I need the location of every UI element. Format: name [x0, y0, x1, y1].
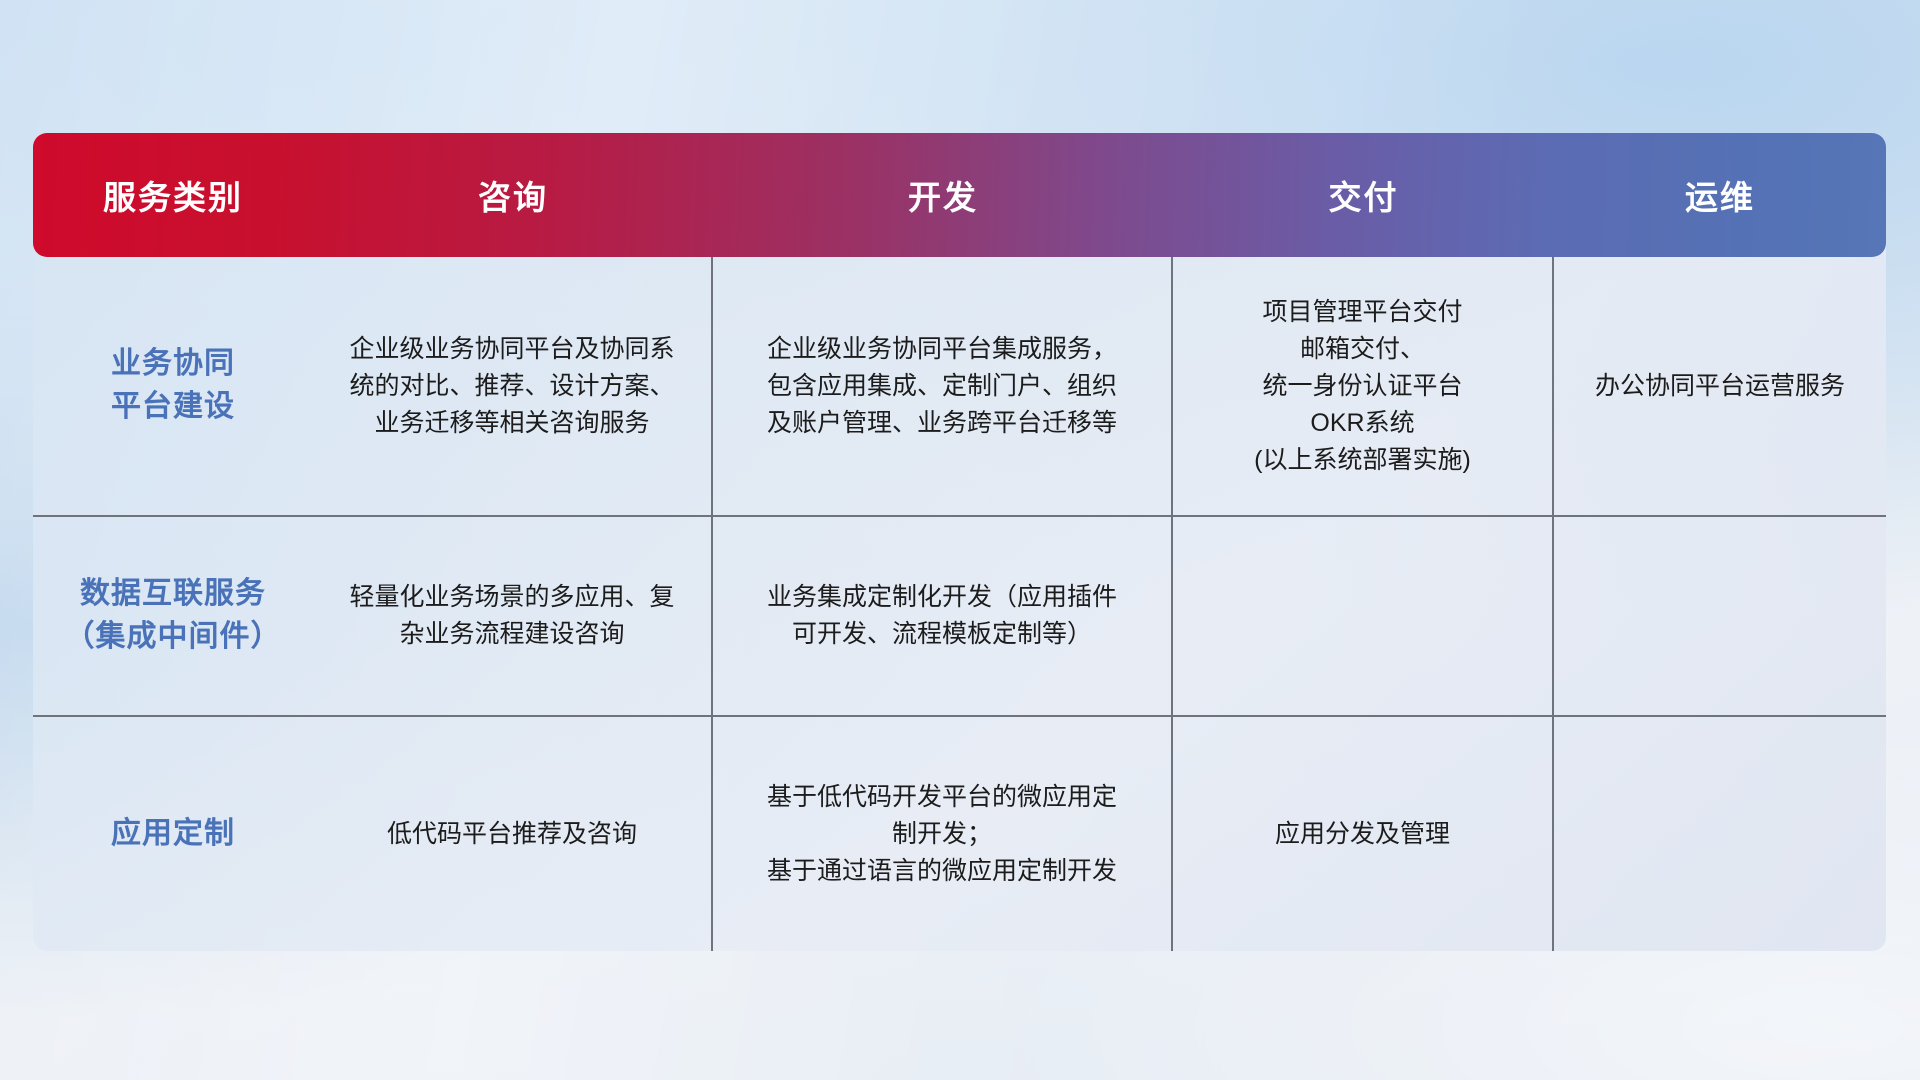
table-header-row: 服务类别 咨询 开发 交付 运维 [33, 133, 1886, 257]
column-header-service-category: 服务类别 [33, 171, 313, 219]
cell-row1-consulting: 企业级业务协同平台及协同系 统的对比、推荐、设计方案、 业务迁移等相关咨询服务 [313, 257, 713, 517]
cell-row2-operations [1554, 517, 1886, 717]
table-grid: 业务协同 平台建设 企业级业务协同平台及协同系 统的对比、推荐、设计方案、 业务… [33, 257, 1886, 951]
cell-row3-consulting: 低代码平台推荐及咨询 [313, 717, 713, 951]
cell-row3-delivery: 应用分发及管理 [1173, 717, 1554, 951]
row-label-business-collaboration: 业务协同 平台建设 [33, 257, 313, 517]
table-row: 业务协同 平台建设 企业级业务协同平台及协同系 统的对比、推荐、设计方案、 业务… [33, 257, 1886, 517]
service-matrix-table: 服务类别 咨询 开发 交付 运维 业务协同 平台建设 企业级业务协同平台及协同系… [33, 133, 1886, 951]
row-label-app-customization: 应用定制 [33, 717, 313, 951]
cell-row1-operations: 办公协同平台运营服务 [1554, 257, 1886, 517]
cell-row3-development: 基于低代码开发平台的微应用定 制开发； 基于通过语言的微应用定制开发 [713, 717, 1173, 951]
cell-row2-development: 业务集成定制化开发（应用插件 可开发、流程模板定制等） [713, 517, 1173, 717]
table-row: 应用定制 低代码平台推荐及咨询 基于低代码开发平台的微应用定 制开发； 基于通过… [33, 717, 1886, 951]
cell-row2-consulting: 轻量化业务场景的多应用、复 杂业务流程建设咨询 [313, 517, 713, 717]
cell-row1-development: 企业级业务协同平台集成服务， 包含应用集成、定制门户、组织 及账户管理、业务跨平… [713, 257, 1173, 517]
cell-row1-delivery: 项目管理平台交付 邮箱交付、 统一身份认证平台 OKR系统 (以上系统部署实施) [1173, 257, 1554, 517]
column-header-consulting: 咨询 [313, 171, 713, 219]
table-row: 数据互联服务 （集成中间件） 轻量化业务场景的多应用、复 杂业务流程建设咨询 业… [33, 517, 1886, 717]
column-header-development: 开发 [713, 171, 1173, 219]
cell-row2-delivery [1173, 517, 1554, 717]
row-label-data-interconnect: 数据互联服务 （集成中间件） [33, 517, 313, 717]
column-header-operations: 运维 [1554, 171, 1886, 219]
cell-row3-operations [1554, 717, 1886, 951]
column-header-delivery: 交付 [1173, 171, 1554, 219]
